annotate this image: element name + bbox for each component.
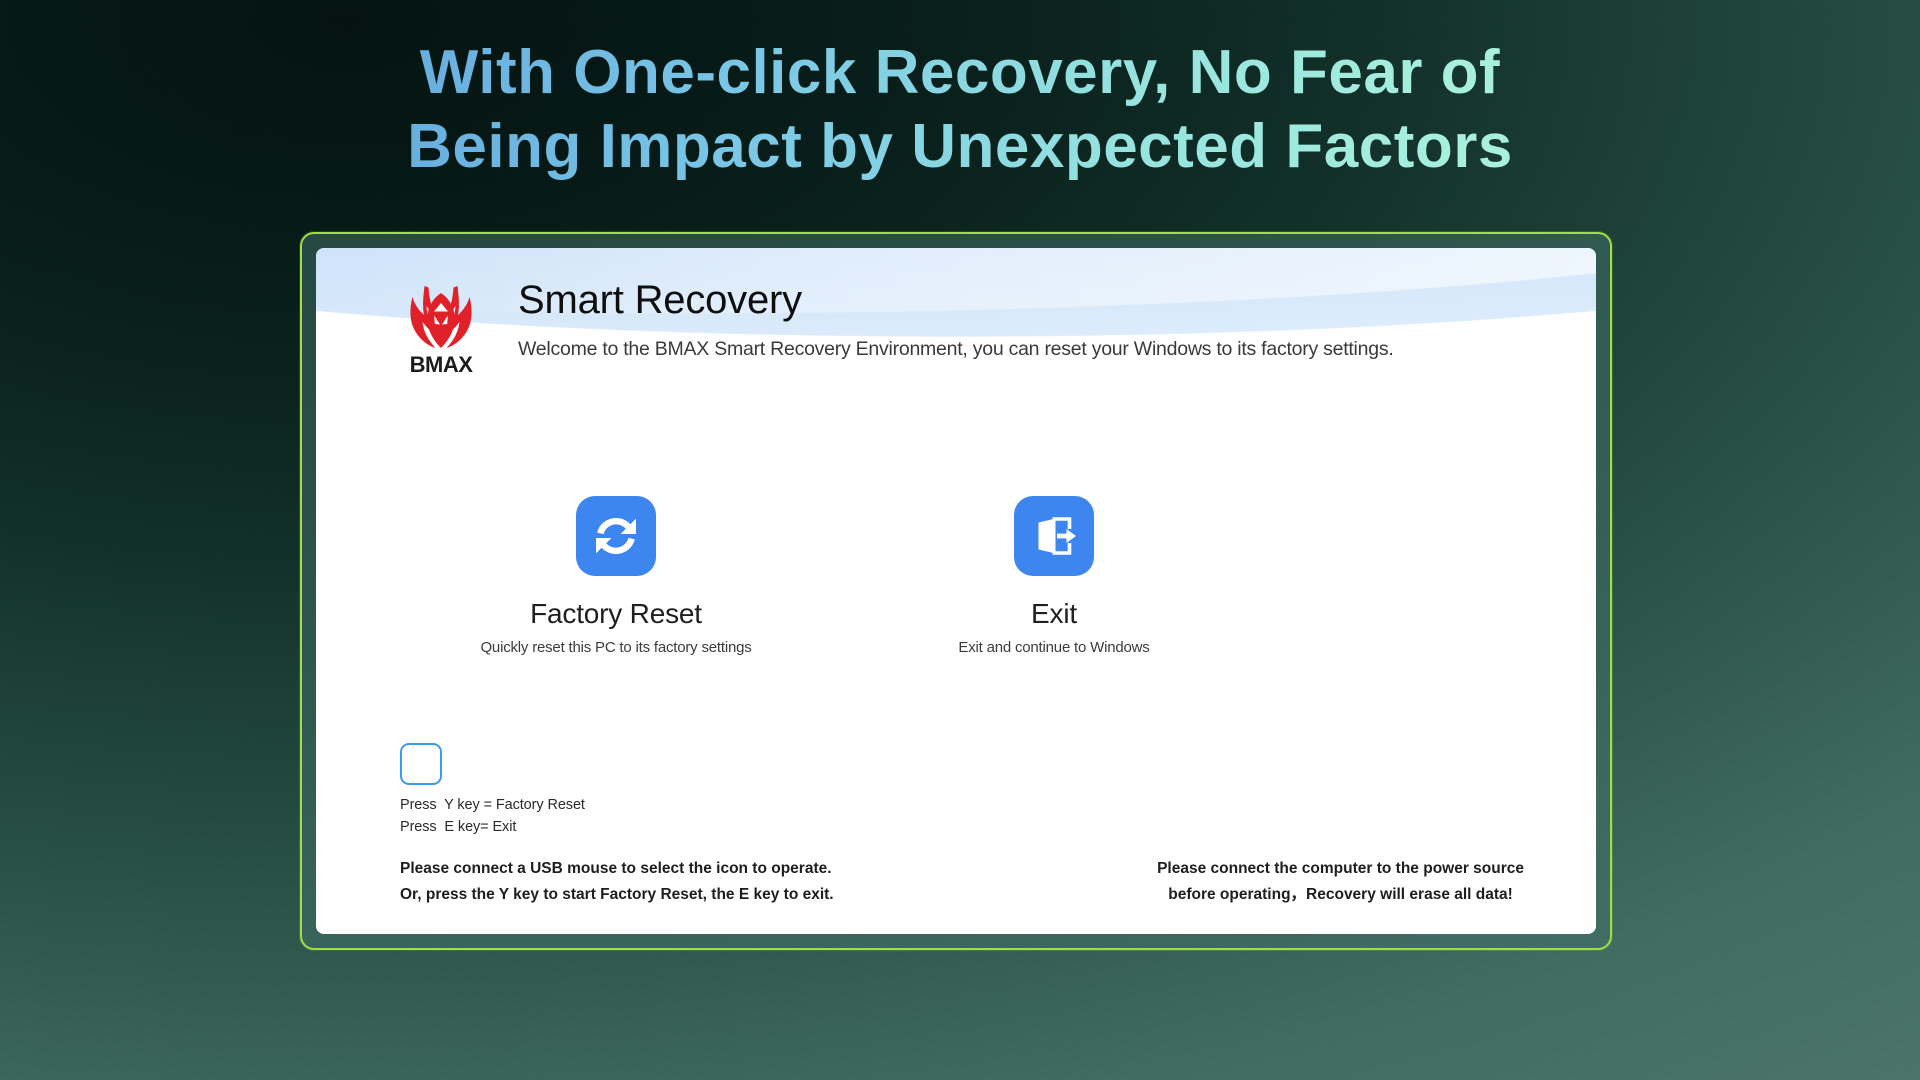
bmax-fox-emblem-icon (404, 284, 478, 350)
footer-left-line-2: Or, press the Y key to start Factory Res… (400, 882, 834, 908)
header-text-block: Smart Recovery Welcome to the BMAX Smart… (518, 268, 1394, 362)
key-hint-line-1: Press Y key = Factory Reset (400, 797, 585, 813)
footer-right-note: Please connect the computer to the power… (1157, 856, 1524, 908)
factory-reset-label: Factory Reset (436, 598, 796, 630)
footer-notes: Please connect a USB mouse to select the… (316, 856, 1596, 908)
footer-right-line-1: Please connect the computer to the power… (1157, 856, 1524, 882)
page-headline: With One-click Recovery, No Fear of Bein… (0, 36, 1920, 184)
dialog-panel: BMAX Smart Recovery Welcome to the BMAX … (316, 248, 1596, 934)
factory-reset-description: Quickly reset this PC to its factory set… (436, 639, 796, 656)
actions-row: Factory Reset Quickly reset this PC to i… (316, 496, 1596, 656)
key-hints-block: Press Y key = Factory Reset Press E key=… (400, 743, 585, 835)
dialog-header: BMAX Smart Recovery Welcome to the BMAX … (398, 268, 1394, 378)
bmax-wordmark: BMAX (410, 352, 473, 378)
key-hint-line-2: Press E key= Exit (400, 819, 585, 835)
exit-door-arrow-icon[interactable] (1014, 496, 1094, 576)
footer-right-line-2: before operating，Recovery will erase all… (1157, 882, 1524, 908)
smart-recovery-dialog: BMAX Smart Recovery Welcome to the BMAX … (300, 232, 1612, 950)
footer-left-line-1: Please connect a USB mouse to select the… (400, 856, 834, 882)
bmax-logo: BMAX (398, 284, 484, 378)
factory-reset-tile[interactable]: Factory Reset Quickly reset this PC to i… (436, 496, 796, 656)
app-title: Smart Recovery (518, 274, 1394, 326)
app-subtitle: Welcome to the BMAX Smart Recovery Envir… (518, 336, 1394, 362)
exit-tile[interactable]: Exit Exit and continue to Windows (874, 496, 1234, 656)
exit-description: Exit and continue to Windows (874, 639, 1234, 656)
refresh-sync-icon[interactable] (576, 496, 656, 576)
exit-label: Exit (874, 598, 1234, 630)
key-input-box[interactable] (400, 743, 442, 785)
footer-left-note: Please connect a USB mouse to select the… (400, 856, 834, 908)
